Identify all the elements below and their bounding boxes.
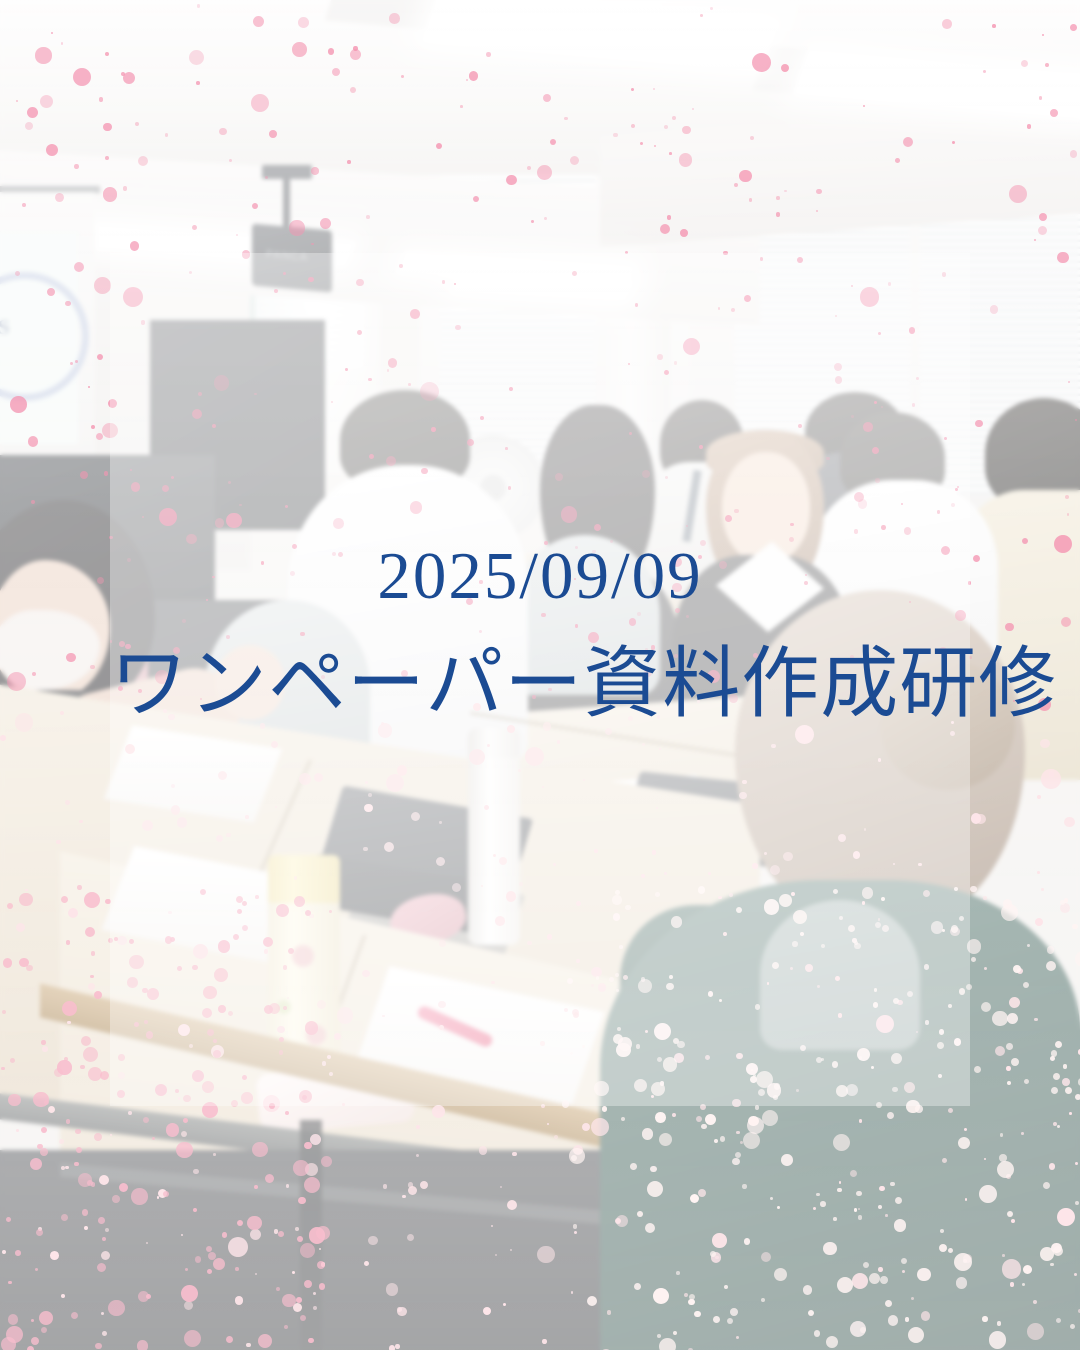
text-overlay-panel: 2025/09/09 ワンペーパー資料作成研修 [110,253,970,1106]
event-date: 2025/09/09 [110,543,970,610]
instagram-post-card: PANCA S [0,0,1080,1350]
event-title: ワンペーパー資料作成研修 [110,645,970,723]
